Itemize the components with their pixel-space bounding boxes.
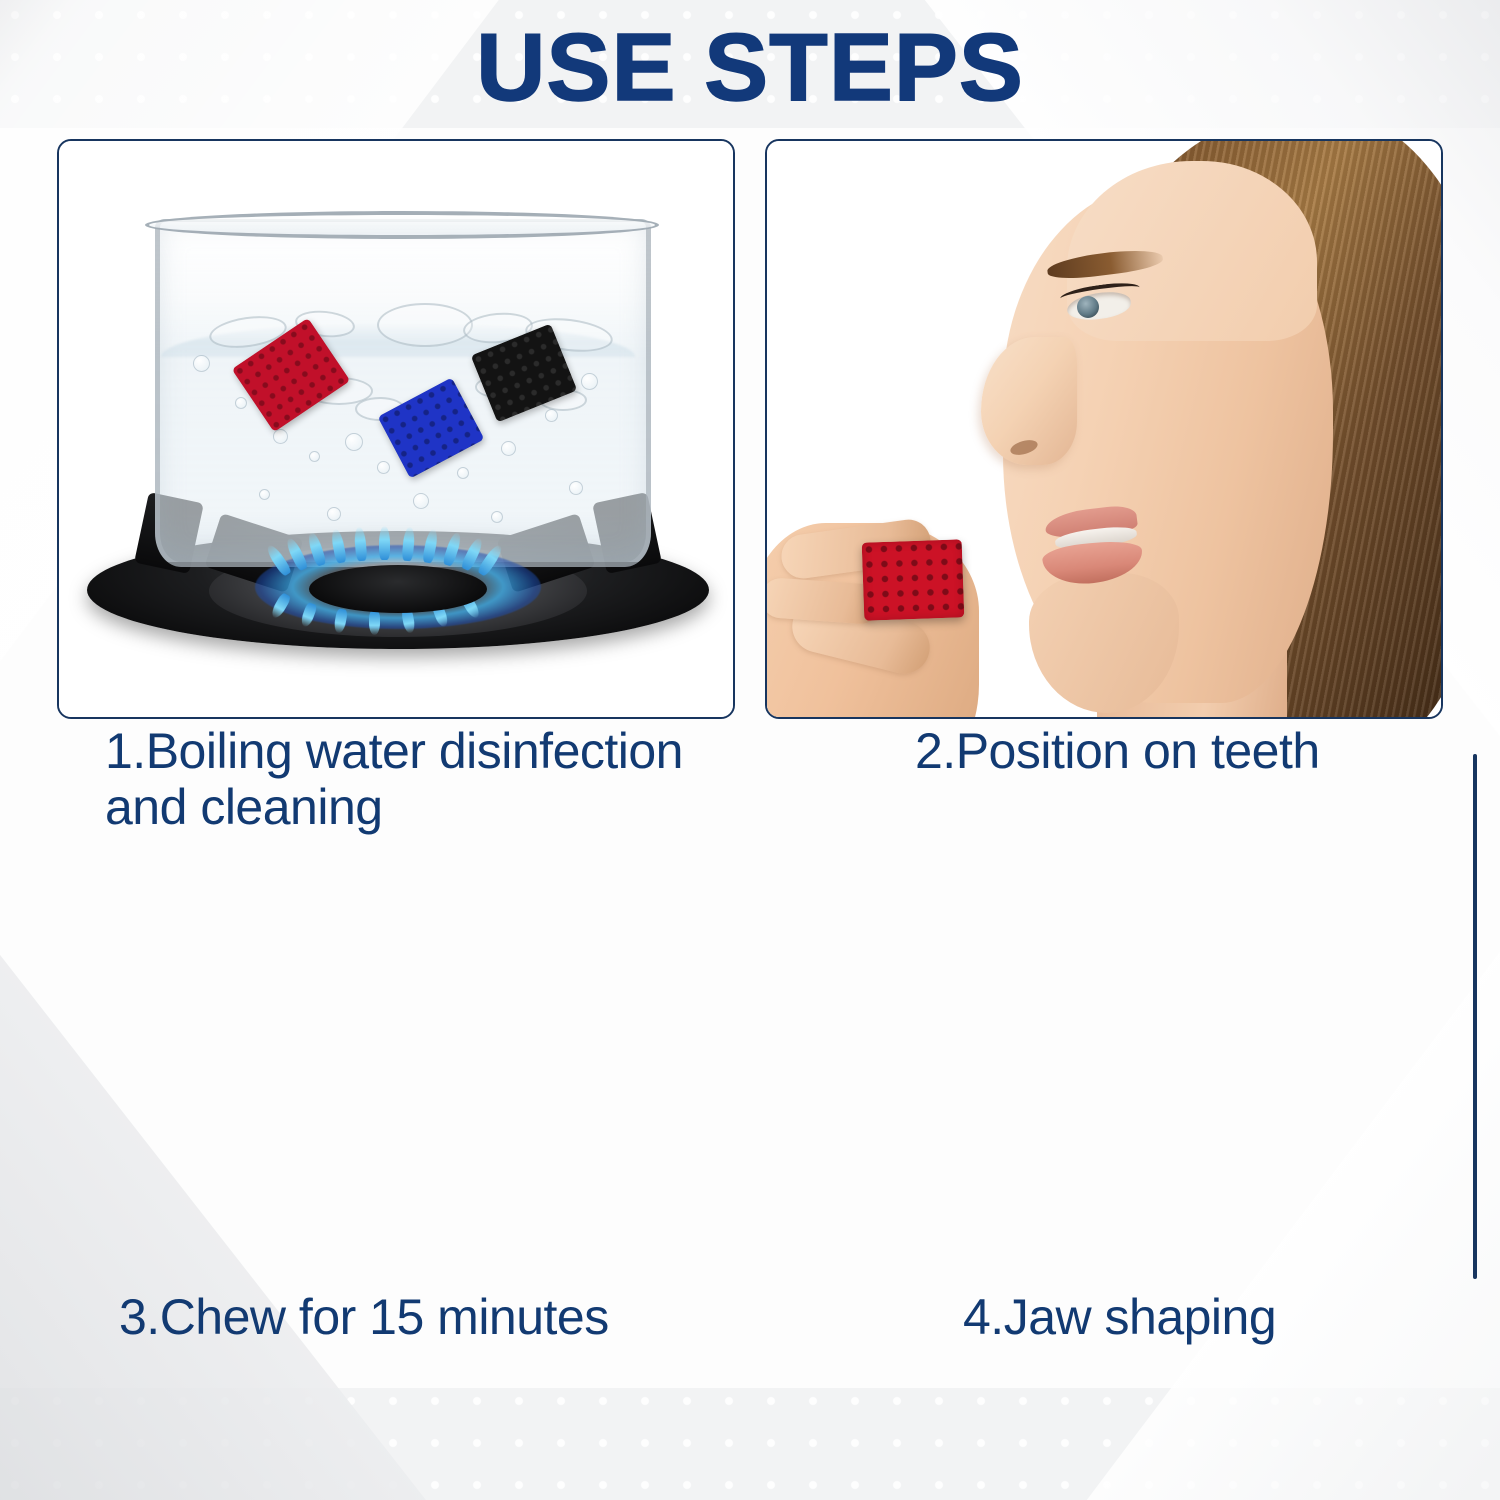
page-title: USE STEPS bbox=[0, 18, 1500, 119]
photo-frame-1 bbox=[57, 139, 735, 719]
steps-grid: 1.Boiling water disinfection and cleanin… bbox=[57, 139, 1443, 1469]
burner-cap bbox=[309, 565, 487, 613]
step-3-caption: 3.Chew for 15 minutes bbox=[57, 1279, 735, 1345]
boiling-pot-scene bbox=[59, 141, 733, 717]
step-1-caption-line-1: 1.Boiling water disinfection bbox=[105, 723, 735, 779]
step-3-caption-wrap: 3.Chew for 15 minutes bbox=[57, 1279, 735, 1349]
step-1-photo bbox=[57, 139, 735, 719]
step-3-photo bbox=[1473, 754, 1477, 1279]
step-2-photo bbox=[765, 139, 1443, 719]
step-4-caption-wrap: 4.Jaw shaping bbox=[765, 1279, 1443, 1349]
pot-rim bbox=[145, 211, 659, 239]
step-1-caption-line-2: and cleaning bbox=[105, 779, 735, 835]
photo-frame-2 bbox=[765, 139, 1443, 719]
profile-woman-scene bbox=[767, 141, 1441, 717]
step-1-caption-wrap: 1.Boiling water disinfection and cleanin… bbox=[57, 719, 735, 835]
step-2-caption-wrap: 2.Position on teeth bbox=[765, 719, 1443, 779]
use-steps-infographic: USE STEPS bbox=[0, 0, 1500, 1500]
step-2-caption: 2.Position on teeth bbox=[765, 719, 1443, 779]
step-4-caption: 4.Jaw shaping bbox=[765, 1279, 1443, 1345]
red-pad-held bbox=[862, 539, 965, 620]
photo-frame-3 bbox=[1473, 754, 1477, 1279]
step-1-caption: 1.Boiling water disinfection and cleanin… bbox=[57, 719, 735, 835]
